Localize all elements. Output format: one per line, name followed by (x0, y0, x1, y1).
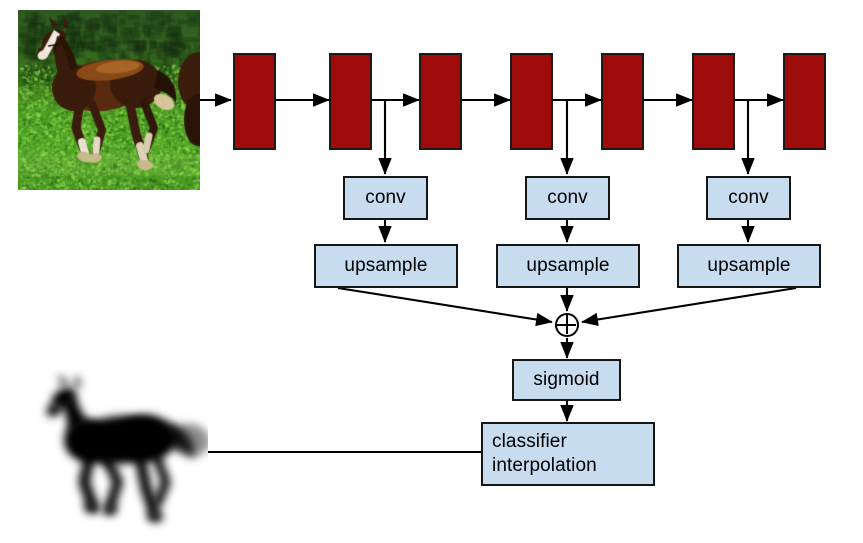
conv-box-1[interactable]: conv (343, 176, 428, 220)
backbone-block-6 (692, 53, 735, 150)
backbone-block-7 (783, 53, 826, 150)
classifier-line-2: interpolation (483, 454, 653, 478)
classifier-line-1: classifier (483, 430, 653, 454)
wire-upsample3-to-sum (582, 288, 796, 322)
wire-upsample1-to-sum (338, 288, 552, 322)
upsample-box-3[interactable]: upsample (677, 244, 821, 288)
backbone-block-5 (601, 53, 644, 150)
backbone-block-2 (329, 53, 372, 150)
backbone-block-1 (233, 53, 276, 150)
output-saliency-map-canvas (28, 370, 208, 535)
input-horse-photo-canvas (18, 10, 200, 190)
output-saliency-map (28, 370, 208, 535)
upsample-box-1[interactable]: upsample (314, 244, 458, 288)
element-wise-sum-icon (555, 313, 579, 337)
sigmoid-box[interactable]: sigmoid (512, 359, 621, 401)
input-horse-photo (18, 10, 200, 190)
diagram-canvas: conv upsample conv upsample conv upsampl… (0, 0, 863, 543)
upsample-box-2[interactable]: upsample (496, 244, 640, 288)
backbone-block-3 (419, 53, 462, 150)
conv-box-3[interactable]: conv (706, 176, 791, 220)
backbone-block-4 (510, 53, 553, 150)
classifier-interpolation-box[interactable]: classifier interpolation (481, 422, 655, 486)
conv-box-2[interactable]: conv (525, 176, 610, 220)
